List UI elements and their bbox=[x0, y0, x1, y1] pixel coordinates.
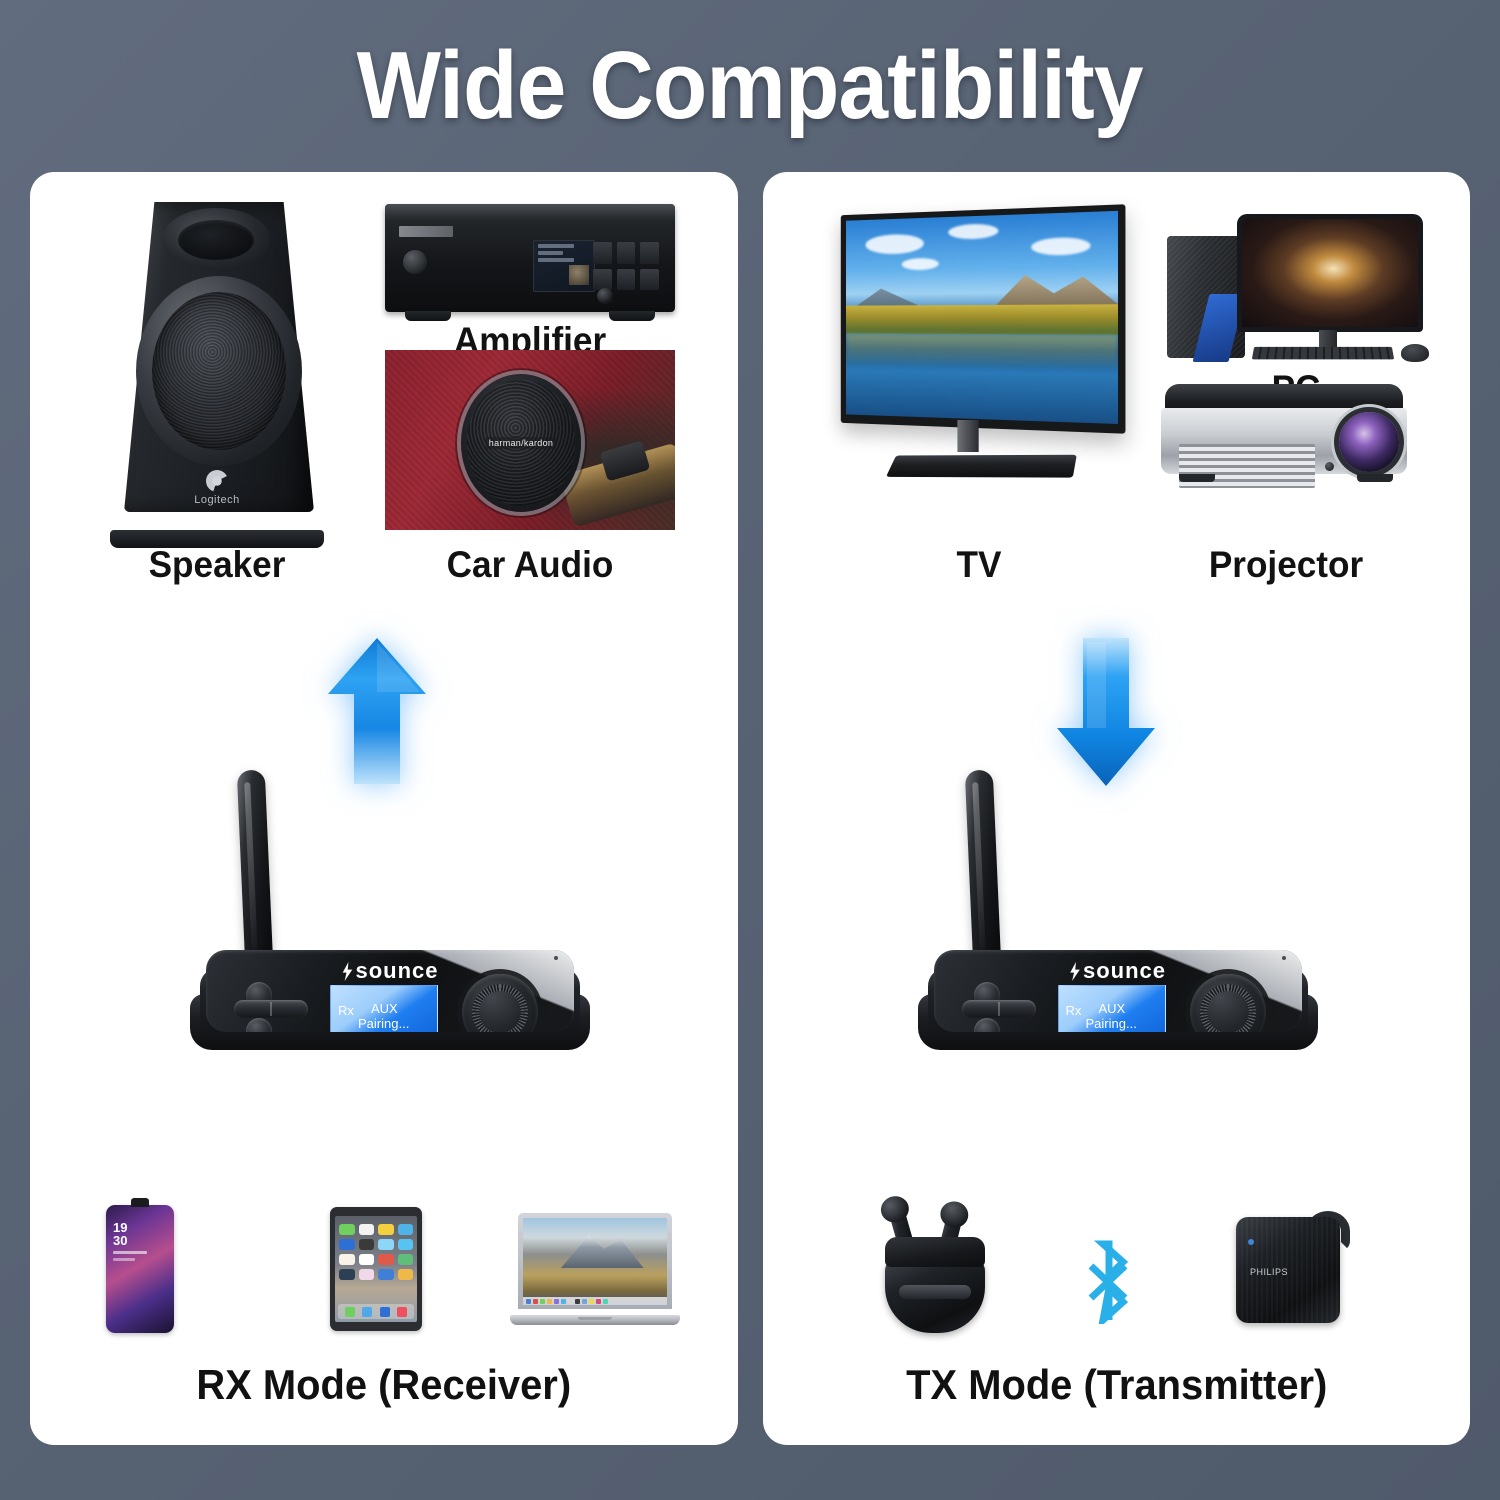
tv-image bbox=[829, 210, 1129, 510]
volume-rocker[interactable] bbox=[234, 1000, 308, 1018]
volume-rocker[interactable] bbox=[962, 1000, 1036, 1018]
earbuds-image bbox=[871, 1203, 1001, 1333]
laptop-image bbox=[510, 1213, 680, 1325]
panel-tx: TV PC Projector bbox=[763, 172, 1471, 1445]
projector-lens bbox=[1339, 412, 1399, 472]
philips-logo: PHILIPS bbox=[1250, 1267, 1288, 1277]
lcd-input: AUX bbox=[371, 1001, 398, 1016]
lightning-bolt-icon bbox=[1069, 962, 1081, 981]
pc-image bbox=[1161, 208, 1431, 368]
panels-container: Logitech Speaker Ampli bbox=[30, 172, 1470, 1445]
tx-output-devices: TV PC Projector bbox=[763, 172, 1471, 602]
mode-button[interactable] bbox=[246, 1018, 272, 1032]
pioneer-logo bbox=[399, 226, 453, 237]
mouse bbox=[1401, 344, 1429, 362]
arrow-up-icon bbox=[322, 632, 432, 792]
tx-source-devices: PHILIPS bbox=[763, 1193, 1471, 1333]
lcd-mode: Rx bbox=[1066, 1003, 1082, 1018]
indicator-led bbox=[1282, 956, 1286, 960]
caption-rx-mode: RX Mode (Receiver) bbox=[48, 1361, 720, 1409]
rx-output-devices: Logitech Speaker Ampli bbox=[30, 172, 738, 602]
lcd-input: AUX bbox=[1099, 1001, 1126, 1016]
rx-source-devices: 19 30 bbox=[30, 1193, 738, 1333]
speaker-image: Logitech bbox=[102, 202, 332, 532]
smartphone-image: 19 30 bbox=[106, 1205, 174, 1333]
popup-camera bbox=[131, 1198, 149, 1207]
projector-image bbox=[1161, 384, 1411, 494]
panel-rx: Logitech Speaker Ampli bbox=[30, 172, 738, 1445]
mode-button[interactable] bbox=[974, 1018, 1000, 1032]
label-speaker: Speaker bbox=[108, 544, 327, 586]
sounce-receiver-device[interactable]: sounce Rx AUX Pairing... bbox=[190, 772, 590, 1072]
lcd-mode: Rx bbox=[338, 1003, 354, 1018]
lcd-status: Pairing... bbox=[1086, 1016, 1137, 1031]
lcd-status: Pairing... bbox=[358, 1016, 409, 1031]
lcd-display: Rx AUX Pairing... bbox=[1058, 985, 1166, 1032]
portable-speaker-image: PHILIPS bbox=[1236, 1211, 1352, 1329]
tablet-image bbox=[330, 1207, 422, 1331]
amplifier-image bbox=[385, 204, 675, 312]
harman-kardon-logo: harman/kardon bbox=[486, 437, 556, 449]
page-title: Wide Compatibility bbox=[357, 38, 1143, 134]
lcd-display: Rx AUX Pairing... bbox=[330, 985, 438, 1032]
indicator-led bbox=[554, 956, 558, 960]
lightning-bolt-icon bbox=[341, 962, 353, 981]
header-bar: Wide Compatibility bbox=[0, 0, 1500, 172]
keyboard bbox=[1251, 347, 1393, 360]
arrow-down-icon bbox=[1051, 632, 1161, 792]
label-car-audio: Car Audio bbox=[392, 544, 668, 586]
logitech-logo: Logitech bbox=[102, 470, 332, 506]
label-projector: Projector bbox=[1167, 544, 1405, 586]
sounce-transmitter-device[interactable]: sounce Rx AUX Pairing... bbox=[918, 772, 1318, 1072]
caption-tx-mode: TX Mode (Transmitter) bbox=[780, 1361, 1452, 1409]
car-audio-image: harman/kardon bbox=[385, 350, 675, 530]
label-tv: TV bbox=[836, 544, 1121, 586]
